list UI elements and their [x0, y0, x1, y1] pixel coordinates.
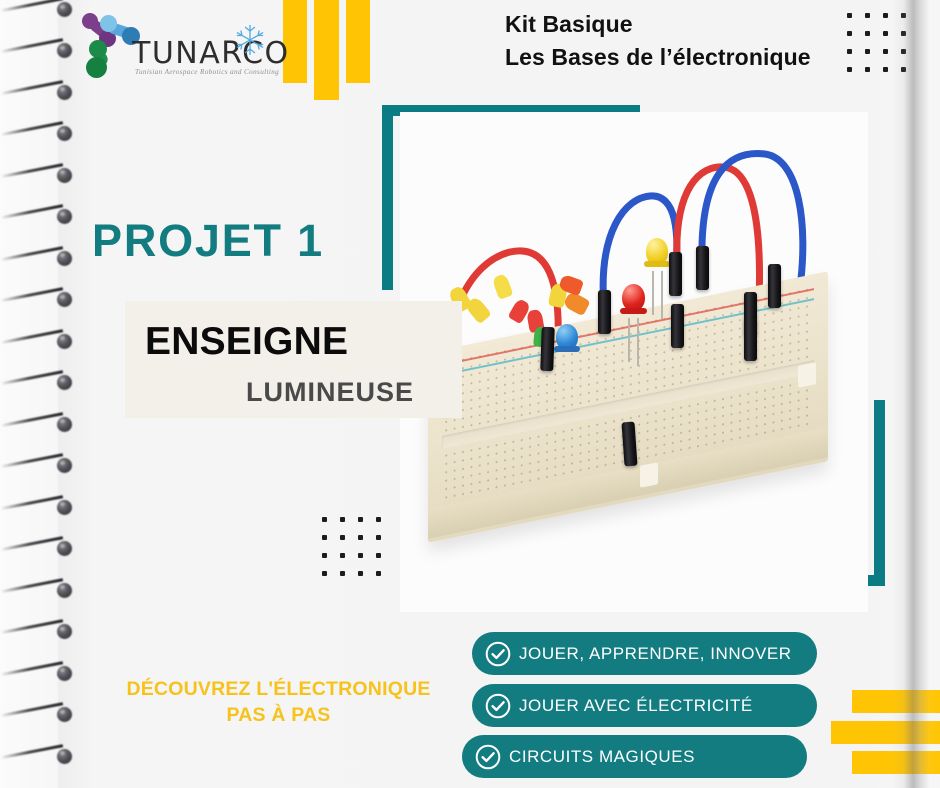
feature-pill-label: JOUER AVEC ÉLECTRICITÉ — [519, 696, 753, 716]
decor-dot — [376, 517, 381, 522]
check-circle-icon — [484, 640, 512, 668]
logo-tagline: Tunisian Aerospace Robotics and Consulti… — [135, 68, 279, 76]
decor-dot — [883, 67, 888, 72]
spiral-ring — [0, 541, 78, 557]
decor-dot — [847, 31, 852, 36]
decor-vbar-2 — [314, 0, 339, 100]
tagline-line2: PAS À PAS — [110, 702, 447, 728]
decor-dot — [865, 49, 870, 54]
decor-dot — [322, 517, 327, 522]
led-red — [622, 284, 645, 322]
feature-pill[interactable]: CIRCUITS MAGIQUES — [462, 735, 807, 778]
decor-dot — [883, 31, 888, 36]
decor-dot — [340, 517, 345, 522]
decor-dot — [865, 31, 870, 36]
decor-dot — [340, 553, 345, 558]
tagline: DÉCOUVREZ L'ÉLECTRONIQUE PAS À PAS — [110, 676, 447, 728]
decor-dot — [376, 571, 381, 576]
decor-vbar-3 — [346, 0, 370, 83]
dot-grid-bottom-left — [322, 517, 382, 577]
title-sub: LUMINEUSE — [246, 377, 414, 408]
spiral-ring — [0, 292, 78, 308]
jumper-plug — [744, 317, 757, 361]
spiral-ring — [0, 168, 78, 184]
decor-dot — [847, 67, 852, 72]
decor-dot — [358, 517, 363, 522]
jumper-plug — [671, 304, 684, 348]
frame-left-edge — [382, 105, 393, 290]
spiral-ring — [0, 500, 78, 516]
spiral-ring — [0, 43, 78, 59]
decor-dot — [358, 535, 363, 540]
frame-right-edge — [874, 400, 885, 586]
jumper-plug — [768, 264, 781, 308]
project-label: PROJET 1 — [92, 215, 324, 267]
decor-dot — [847, 13, 852, 18]
brand-logo[interactable]: TUNARCO Tunisian Aerospace Robotics and … — [80, 8, 280, 96]
led-yellow — [646, 238, 668, 275]
title-main: ENSEIGNE — [145, 320, 348, 364]
spiral-ring — [0, 375, 78, 391]
kit-title-line1: Kit Basique — [505, 8, 811, 41]
snowflake-icon — [232, 22, 268, 58]
feature-pill[interactable]: JOUER, APPRENDRE, INNOVER — [472, 632, 817, 675]
board-clip — [640, 462, 658, 487]
spiral-ring — [0, 458, 78, 474]
jumper-plug — [696, 246, 709, 290]
jumper-plug — [598, 290, 611, 334]
decor-dot — [340, 571, 345, 576]
feature-pill-label: CIRCUITS MAGIQUES — [509, 747, 695, 767]
decor-dot — [847, 49, 852, 54]
decor-dot — [358, 571, 363, 576]
decor-dot — [376, 553, 381, 558]
spiral-ring — [0, 666, 78, 682]
spiral-ring — [0, 583, 78, 599]
decor-dot — [865, 13, 870, 18]
feature-pill-label: JOUER, APPRENDRE, INNOVER — [519, 644, 792, 664]
spiral-ring — [0, 209, 78, 225]
spiral-ring — [0, 85, 78, 101]
decor-dot — [376, 535, 381, 540]
page-edge-shadow — [892, 0, 940, 788]
breadboard-photo — [400, 112, 868, 612]
spiral-ring — [0, 334, 78, 350]
poster-page: TUNARCO Tunisian Aerospace Robotics and … — [0, 0, 940, 788]
feature-pill[interactable]: JOUER AVEC ÉLECTRICITÉ — [472, 684, 817, 727]
spiral-ring — [0, 126, 78, 142]
spiral-ring — [0, 749, 78, 765]
kit-header: Kit Basique Les Bases de l’électronique — [505, 8, 811, 74]
board-clip — [798, 362, 816, 387]
jumper-plug — [669, 252, 682, 296]
jumper-plug — [540, 327, 555, 371]
spiral-ring — [0, 417, 78, 433]
decor-dot — [883, 13, 888, 18]
tagline-line1: DÉCOUVREZ L'ÉLECTRONIQUE — [110, 676, 447, 702]
decor-dot — [883, 49, 888, 54]
check-circle-icon — [474, 743, 502, 771]
decor-dot — [358, 553, 363, 558]
decor-dot — [322, 571, 327, 576]
spiral-ring — [0, 251, 78, 267]
decor-dot — [865, 67, 870, 72]
spiral-ring — [0, 624, 78, 640]
decor-dot — [322, 535, 327, 540]
decor-dot — [340, 535, 345, 540]
spiral-ring — [0, 2, 78, 18]
kit-title-line2: Les Bases de l’électronique — [505, 41, 811, 74]
led-blue — [556, 324, 578, 360]
check-circle-icon — [484, 692, 512, 720]
decor-dot — [322, 553, 327, 558]
spiral-binding — [0, 0, 90, 788]
spiral-ring — [0, 707, 78, 723]
